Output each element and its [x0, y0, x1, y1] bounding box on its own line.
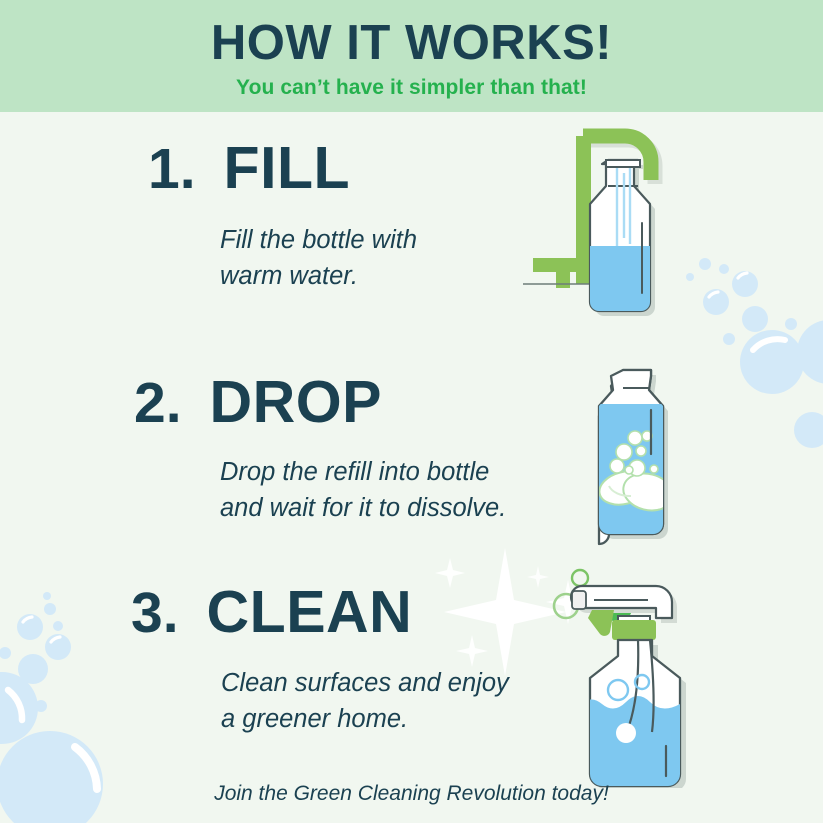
page-subtitle: You can’t have it simpler than that! [0, 76, 823, 100]
header-band: HOW IT WORKS! You can’t have it simpler … [0, 0, 823, 112]
step-1-heading: 1. FILL [148, 134, 417, 202]
spray-bottle-illustration [530, 548, 740, 788]
bottle-with-dissolving-tablets-illustration [568, 358, 718, 548]
step-1-title: FILL [224, 134, 351, 202]
tagline: Join the Green Cleaning Revolution today… [0, 782, 823, 806]
page-title: HOW IT WORKS! [0, 18, 823, 69]
step-3-number: 3. [131, 580, 179, 646]
step-3-title: CLEAN [207, 578, 413, 646]
step-1-description: Fill the bottle with warm water. [220, 222, 417, 294]
step-2-heading: 2. DROP [134, 368, 506, 436]
step-2-number: 2. [134, 370, 182, 436]
step-2-drop: 2. DROP Drop the refill into bottle and … [134, 368, 506, 526]
step-2-title: DROP [210, 368, 382, 436]
step-1-number: 1. [148, 136, 196, 202]
step-1-fill: 1. FILL Fill the bottle with warm water. [148, 134, 417, 294]
faucet-filling-bottle-illustration [505, 118, 705, 323]
step-2-description: Drop the refill into bottle and wait for… [220, 454, 506, 526]
infographic-poster: HOW IT WORKS! You can’t have it simpler … [0, 0, 823, 823]
